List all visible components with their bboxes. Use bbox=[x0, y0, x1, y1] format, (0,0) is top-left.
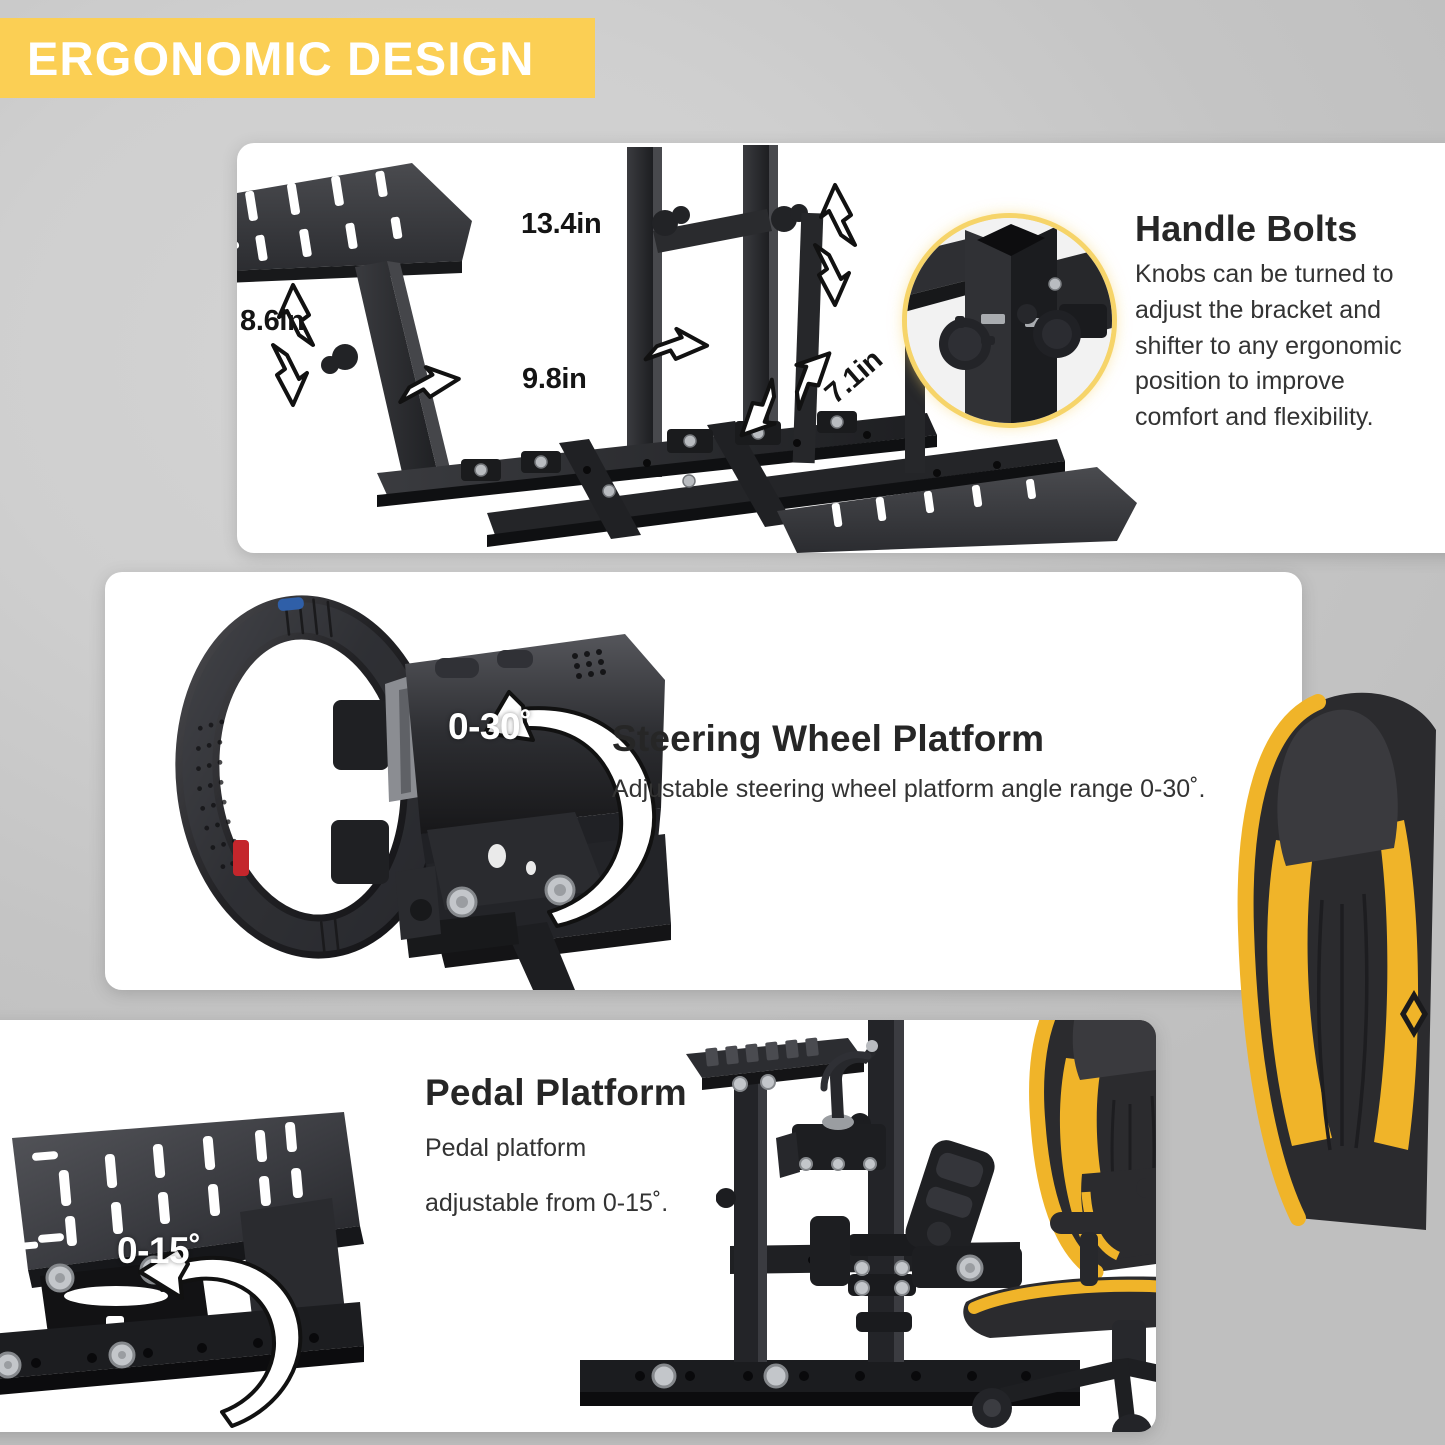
gaming-chair bbox=[1037, 1020, 1156, 1272]
dimension-label-13-4in: 13.4in bbox=[521, 208, 601, 241]
chair-armrest-right bbox=[1136, 1178, 1156, 1198]
steering-wheel-text-block: Steering Wheel Platform Adjustable steer… bbox=[612, 718, 1302, 808]
steering-wheel-title: Steering Wheel Platform bbox=[612, 718, 1302, 760]
handle-bolts-title: Handle Bolts bbox=[1135, 208, 1435, 250]
pedal-platform-body-line-1: Pedal platform bbox=[425, 1128, 795, 1169]
handle-bolt-closeup-photo bbox=[907, 218, 1112, 423]
header-banner-title: ERGONOMIC DESIGN bbox=[0, 31, 535, 86]
dimension-label-8-6in: 8.6in bbox=[240, 305, 305, 338]
handle-bolts-text-block: Handle Bolts Knobs can be turned to adju… bbox=[1135, 208, 1435, 436]
pedal-platform-body-line-2: adjustable from 0-15˚. bbox=[425, 1183, 795, 1224]
handle-bolt-detail-circle bbox=[907, 218, 1112, 423]
pedal-platform-text-block: Pedal Platform Pedal platform adjustable… bbox=[425, 1072, 795, 1225]
header-banner: ERGONOMIC DESIGN bbox=[0, 18, 595, 98]
angle-label-0-30: 0-30˚ bbox=[448, 706, 532, 748]
card-pedal-platform: Pedal Platform Pedal platform adjustable… bbox=[0, 1020, 1156, 1432]
card-steering-wheel-platform: Steering Wheel Platform Adjustable steer… bbox=[105, 572, 1302, 990]
pedal-platform-title: Pedal Platform bbox=[425, 1072, 795, 1114]
wheel-red-button bbox=[233, 840, 249, 876]
infographic-canvas: Handle Bolts Knobs can be turned to adju… bbox=[0, 0, 1445, 1445]
chair-armrest-left bbox=[1050, 1212, 1156, 1234]
arrow-8-6in bbox=[273, 285, 313, 405]
handle-bolts-body: Knobs can be turned to adjust the bracke… bbox=[1135, 257, 1435, 436]
steering-wheel-body: Adjustable steering wheel platform angle… bbox=[612, 772, 1302, 808]
card-handle-bolts: Handle Bolts Knobs can be turned to adju… bbox=[237, 143, 1445, 553]
angle-label-0-15: 0-15˚ bbox=[117, 1230, 201, 1272]
dimension-label-9-8in: 9.8in bbox=[522, 363, 587, 396]
